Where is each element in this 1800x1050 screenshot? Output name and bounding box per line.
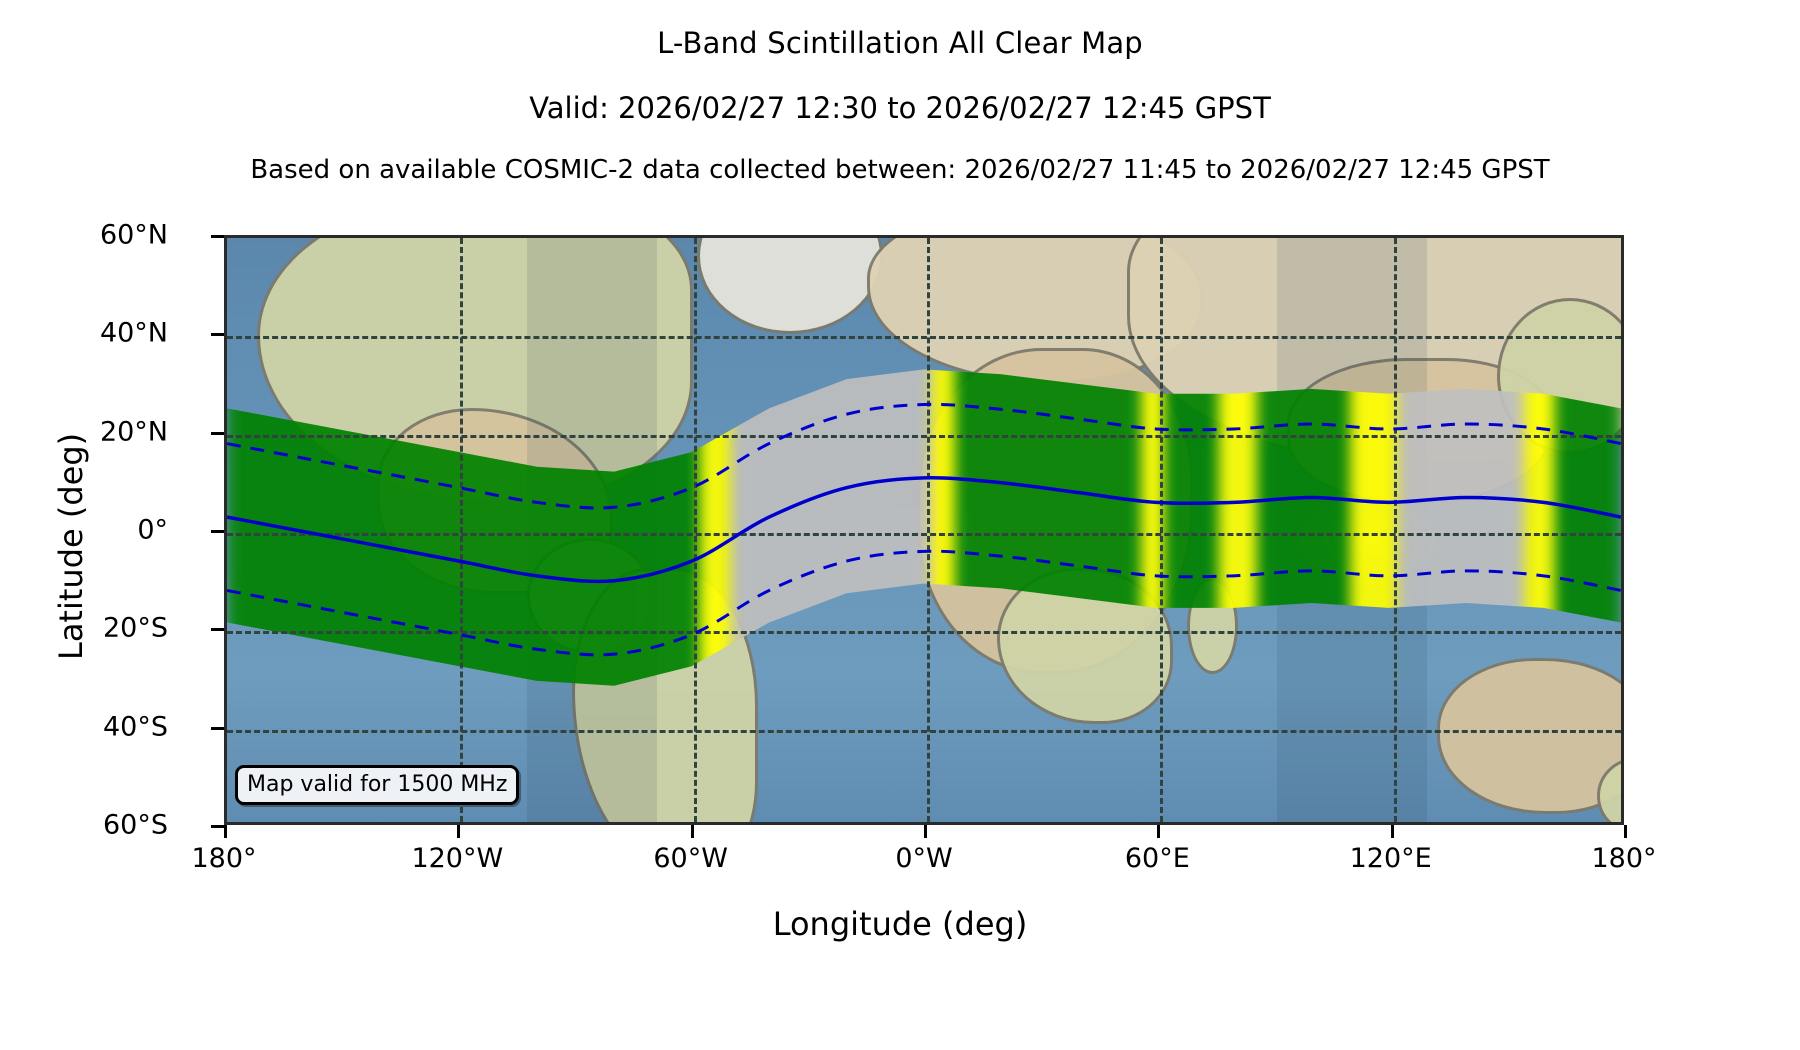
x-axis-label: Longitude (deg) <box>0 905 1800 943</box>
x-tick-120°W: 120°W <box>357 843 557 874</box>
y-tick-mark <box>211 530 224 533</box>
x-tick-120°E: 120°E <box>1291 843 1491 874</box>
y-tick-mark <box>211 235 224 238</box>
x-tick-60°E: 60°E <box>1057 843 1257 874</box>
y-tick-40°S: 40°S <box>8 711 168 742</box>
map-canvas[interactable]: Map valid for 1500 MHz Probably Clear > … <box>224 235 1624 825</box>
x-tick-mark <box>1157 825 1160 838</box>
y-tick-mark <box>211 727 224 730</box>
y-tick-60°S: 60°S <box>8 810 168 841</box>
y-tick-mark <box>211 628 224 631</box>
magnetic-equator-curves <box>227 238 1621 825</box>
y-tick-40°N: 40°N <box>8 318 168 349</box>
y-tick-mark <box>211 825 224 828</box>
boundary-north-line <box>227 404 1621 508</box>
y-tick-mark <box>211 432 224 435</box>
validity-title: Valid: 2026/02/27 12:30 to 2026/02/27 12… <box>0 91 1800 125</box>
map-valid-annotation: Map valid for 1500 MHz <box>235 765 519 805</box>
map-valid-annotation-anchor: Map valid for 1500 MHz <box>235 765 519 805</box>
x-tick-180°: 180° <box>1524 843 1724 874</box>
x-tick-180°: 180° <box>124 843 324 874</box>
y-tick-60°N: 60°N <box>8 220 168 251</box>
map-plot[interactable]: Map valid for 1500 MHz Probably Clear > … <box>224 235 1624 825</box>
x-tick-mark <box>457 825 460 838</box>
data-source-title: Based on available COSMIC-2 data collect… <box>0 155 1800 185</box>
boundary-south-line <box>227 551 1621 655</box>
y-axis-label: Latitude (deg) <box>52 433 90 660</box>
magnetic-equator-line <box>227 478 1621 582</box>
x-tick-60°W: 60°W <box>591 843 791 874</box>
x-tick-mark <box>691 825 694 838</box>
x-tick-mark <box>224 825 227 838</box>
x-tick-mark <box>924 825 927 838</box>
y-tick-mark <box>211 333 224 336</box>
x-tick-mark <box>1624 825 1627 838</box>
x-tick-0°W: 0°W <box>824 843 1024 874</box>
title-block: L-Band Scintillation All Clear Map Valid… <box>0 0 1800 185</box>
x-tick-mark <box>1391 825 1394 838</box>
page-title: L-Band Scintillation All Clear Map <box>0 26 1800 60</box>
